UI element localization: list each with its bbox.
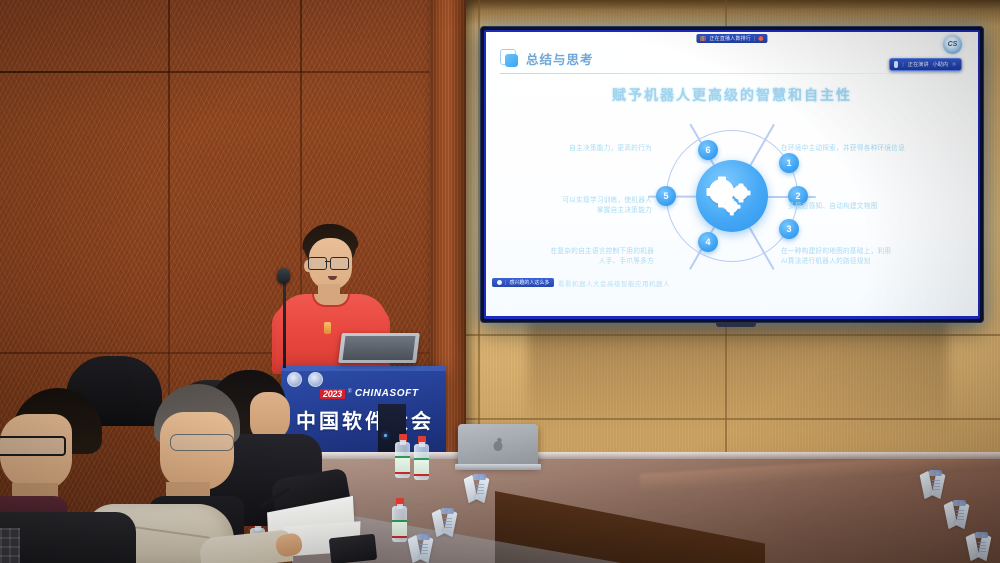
header-divider [500,73,955,74]
apple-icon [494,441,503,451]
presentation-slide: 正在直播人数排行 | CS 总结与思考 | 正在演讲 小助内 » 赋予机器人更高… [486,32,978,316]
eyeglasses-icon [170,434,234,451]
microphone-icon [277,268,290,284]
podium-superscript: 第 [348,388,352,394]
wall-seam [0,71,462,73]
diagram-node-6[interactable]: 6 [698,140,718,160]
smartphone[interactable] [329,534,377,563]
eyeglasses-icon [308,257,352,268]
eyeglasses-icon [0,436,66,456]
slide-header-text: 总结与思考 [526,49,594,68]
bullet-dot-icon [497,280,502,285]
diagram-node-3[interactable]: 3 [779,219,799,239]
diagram-label-1: 在环境中主动探索，并获得各种环境信息 [781,144,941,154]
screenshot-scene: 正在直播人数排行 | CS 总结与思考 | 正在演讲 小助内 » 赋予机器人更高… [0,0,1000,563]
live-speaker-name: 小助内 [933,61,949,68]
water-bottle [414,436,429,480]
microphone-icon [894,61,898,68]
diagram-node-5[interactable]: 5 [656,186,676,206]
wall-seam-vertical [478,0,480,455]
interest-badge-label: 感兴趣的人这么多 [509,279,549,286]
diagram-label-4: 在复杂的自主语言控制下用的机器 人手、手爪等多方 [504,247,654,267]
diagram-label-6: 自主决策能力，更高的行为 [512,144,652,154]
status-led-icon [384,434,387,437]
name-card-holder [434,508,460,536]
slide-title: 赋予机器人更高级的智慧和自主性 [486,85,978,105]
divider: | [754,36,756,42]
macbook-on-table[interactable] [458,424,538,470]
diagram-label-2: 多模态感知、自动构建文物图 [788,202,943,212]
presenter-laptop-screen [343,336,416,360]
wall-seam [466,334,1000,336]
rounded-squares-icon [500,49,519,68]
shirt-graphic [324,322,331,334]
bar-chart-icon [700,36,706,41]
name-card-holder [466,474,492,502]
slide-bottom-caption: 看看机器人大会高级智能应用机器人 [558,278,670,288]
divider: | [902,62,903,68]
live-ranking-label: 正在直播人数排行 [709,35,751,42]
wall-display-screen[interactable]: 正在直播人数排行 | CS 总结与思考 | 正在演讲 小助内 » 赋予机器人更高… [481,27,983,322]
wall-seam [466,418,1000,420]
conference-circular-logo: CS [943,35,962,54]
name-card-holder [922,470,948,498]
name-card-holder [410,534,436,562]
microphone-stand [283,276,286,368]
live-speaking-label: 正在演讲 [908,61,929,68]
diagram-node-4[interactable]: 4 [698,232,718,252]
name-card-holder [946,500,972,528]
flame-icon [759,36,764,41]
water-bottle [392,498,407,542]
podium-english-title: 2023 第 CHINASOFT [320,388,419,399]
attendee-1 [0,388,132,563]
circular-process-diagram: 1 2 3 4 5 6 [666,130,798,262]
podium-english-name: CHINASOFT [355,388,419,399]
screen-mount [716,322,756,327]
diagram-node-1[interactable]: 1 [779,153,799,173]
live-ranking-tab[interactable]: 正在直播人数排行 | [696,34,767,43]
double-chevron-icon[interactable]: » [952,61,955,68]
divider: | [505,280,506,286]
water-bottle [395,434,410,478]
diagram-label-5: 可以实现学习训练，使机器人 掌握自主决策能力 [500,196,652,216]
diagram-center [696,160,768,232]
wall-shadow-band [466,0,1000,26]
diagram-label-3: 在一种构建好的地图的基础上，利用 AI算法进行机器人的路径规划 [781,247,946,267]
name-card-holder [968,532,994,560]
slide-header: 总结与思考 [500,49,594,68]
interest-badge[interactable]: | 感兴趣的人这么多 [492,278,554,287]
live-speaking-badge[interactable]: | 正在演讲 小助内 » [889,58,962,71]
gears-icon [709,176,755,216]
